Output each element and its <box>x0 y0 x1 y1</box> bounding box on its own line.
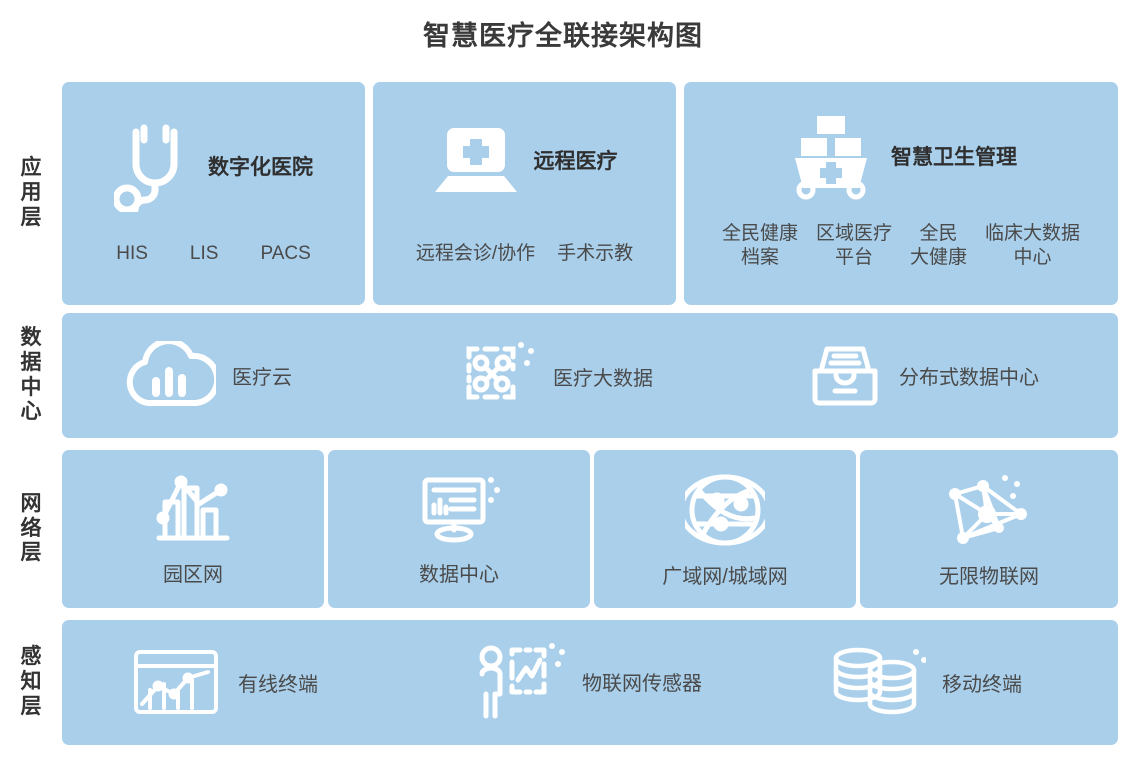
card-wireless-iot[interactable]: 无限物联网 <box>860 450 1118 608</box>
item-network-data-center-label: 数据中心 <box>419 558 499 587</box>
item-distributed-data-center[interactable]: 分布式数据中心 <box>807 341 1039 409</box>
sub-item-surgery-teaching: 手术示教 <box>557 242 633 266</box>
layer-label-network: 网络层 <box>8 450 54 608</box>
layer-label-data-center-text: 数据中心 <box>21 326 42 425</box>
item-campus-network[interactable]: 园区网 <box>62 472 324 587</box>
sub-item-clinical-bigdata-center: 临床大数据 中心 <box>985 222 1080 270</box>
laptop-cross-icon <box>432 124 520 196</box>
item-distributed-data-center-label: 分布式数据中心 <box>899 361 1039 390</box>
cloud-bars-icon <box>124 341 216 409</box>
card-digital-hospital-title: 数字化医院 <box>208 151 313 181</box>
sub-item-health-records: 全民健康 档案 <box>722 222 798 270</box>
item-network-data-center[interactable]: 数据中心 <box>328 472 590 587</box>
card-telemedicine[interactable]: 远程医疗 远程会诊/协作 手术示教 <box>373 82 676 305</box>
globe-network-icon <box>685 472 765 550</box>
card-telemedicine-title: 远程医疗 <box>534 145 618 175</box>
item-medical-cloud-label: 医疗云 <box>232 361 292 390</box>
card-wan-man[interactable]: 广域网/城域网 <box>594 450 856 608</box>
item-iot-sensor-label: 物联网传感器 <box>582 667 702 696</box>
data-center-layer-row: 医疗云 <box>62 313 1118 438</box>
layer-label-sensing: 感知层 <box>8 620 54 745</box>
sub-item-national-wellness: 全民 大健康 <box>910 222 967 270</box>
sensing-layer-row: 有线终端 <box>62 620 1118 745</box>
file-drawer-icon <box>807 341 883 409</box>
bar-chart-icon <box>151 472 235 548</box>
item-wireless-iot-label: 无限物联网 <box>939 560 1039 589</box>
card-smart-health-management[interactable]: 智慧卫生管理 全民健康 档案 区域医疗 平台 全民 大健康 临床大数据 中心 <box>684 82 1118 305</box>
item-mobile-terminal-label: 移动终端 <box>942 668 1022 697</box>
layer-label-data-center: 数据中心 <box>8 313 54 438</box>
sub-item-lis: LIS <box>190 242 219 266</box>
stethoscope-icon <box>114 120 194 212</box>
sub-item-remote-consultation: 远程会诊/协作 <box>416 242 535 266</box>
sub-item-regional-platform: 区域医疗 平台 <box>816 222 892 270</box>
application-layer-row: 数字化医院 HIS LIS PACS <box>62 82 1118 305</box>
card-smart-health-management-title: 智慧卫生管理 <box>891 141 1017 171</box>
card-data-center-band[interactable]: 医疗云 <box>62 313 1118 438</box>
card-sensing-band[interactable]: 有线终端 <box>62 620 1118 745</box>
layer-label-sensing-text: 感知层 <box>21 645 42 719</box>
layer-label-network-text: 网络层 <box>21 492 42 566</box>
layer-label-application-text: 应用层 <box>21 156 42 230</box>
monitor-chart-icon <box>417 472 501 548</box>
card-network-data-center[interactable]: 数据中心 <box>328 450 590 608</box>
item-wired-terminal[interactable]: 有线终端 <box>130 646 318 718</box>
layer-label-application: 应用层 <box>8 82 54 305</box>
node-graph-icon <box>943 472 1035 550</box>
sub-item-pacs: PACS <box>260 242 310 266</box>
item-wireless-iot[interactable]: 无限物联网 <box>860 472 1118 589</box>
person-chart-icon <box>474 640 566 722</box>
item-medical-bigdata[interactable]: 医疗大数据 <box>457 339 653 413</box>
item-wan-man-label: 广域网/城域网 <box>662 560 788 589</box>
item-wired-terminal-label: 有线终端 <box>238 668 318 697</box>
card-campus-network[interactable]: 园区网 <box>62 450 324 608</box>
network-layer-row: 园区网 <box>62 450 1118 608</box>
item-campus-network-label: 园区网 <box>163 558 223 587</box>
item-mobile-terminal[interactable]: 移动终端 <box>830 642 1022 722</box>
window-chart-icon <box>130 646 222 718</box>
data-network-box-icon <box>457 339 537 413</box>
page-title: 智慧医疗全联接架构图 <box>0 14 1126 53</box>
item-wan-man[interactable]: 广域网/城域网 <box>594 472 856 589</box>
item-medical-bigdata-label: 医疗大数据 <box>553 362 653 391</box>
sub-item-his: HIS <box>116 242 148 266</box>
item-medical-cloud[interactable]: 医疗云 <box>124 341 292 409</box>
database-stack-icon <box>830 642 926 722</box>
ambulance-icon <box>785 112 877 200</box>
item-iot-sensor[interactable]: 物联网传感器 <box>474 640 702 722</box>
card-digital-hospital[interactable]: 数字化医院 HIS LIS PACS <box>62 82 365 305</box>
